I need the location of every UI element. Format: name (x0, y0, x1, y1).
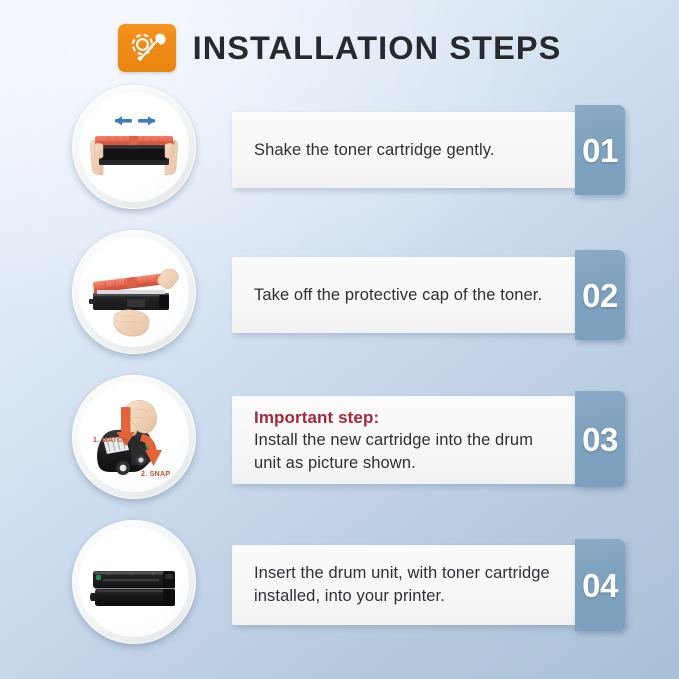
step-text-body: Install the new cartridge into the drum … (254, 431, 533, 472)
step-text: Insert the drum unit, with toner cartrid… (254, 562, 555, 608)
arrow-left-icon (115, 116, 132, 125)
step-number-badge: 03 (575, 391, 625, 487)
step-image-4 (72, 520, 196, 644)
step-card: Important step: Install the new cartridg… (232, 396, 575, 484)
step-image-2 (72, 230, 196, 354)
step-card: Shake the toner cartridge gently. (232, 112, 575, 188)
step-text: Important step: Install the new cartridg… (254, 406, 555, 475)
step-image-3: 1. MATCH 2. SNAP (72, 375, 196, 499)
important-step-label: Important step: (254, 406, 555, 429)
annotation-match: 1. MATCH (93, 437, 128, 444)
gear-wrench-icon (118, 24, 176, 72)
step-number: 04 (582, 569, 618, 602)
steps-list: Shake the toner cartridge gently. 01 (0, 82, 679, 662)
step-text: Shake the toner cartridge gently. (254, 139, 495, 162)
step-number: 03 (582, 423, 618, 456)
step-number: 01 (582, 134, 618, 167)
step-number-badge: 01 (575, 105, 625, 195)
step-number-badge: 04 (575, 539, 625, 631)
step-card: Insert the drum unit, with toner cartrid… (232, 545, 575, 625)
step-number-badge: 02 (575, 250, 625, 340)
step-row: Take off the protective cap of the toner… (0, 227, 679, 372)
step-row: Shake the toner cartridge gently. 01 (0, 82, 679, 227)
step-number: 02 (582, 279, 618, 312)
step-image-1 (72, 85, 196, 209)
step-text: Take off the protective cap of the toner… (254, 284, 542, 307)
step-card: Take off the protective cap of the toner… (232, 257, 575, 333)
page-header: INSTALLATION STEPS (0, 17, 679, 79)
step-row: Insert the drum unit, with toner cartrid… (0, 517, 679, 662)
annotation-snap: 2. SNAP (141, 471, 170, 478)
page-title: INSTALLATION STEPS (193, 32, 562, 65)
step-row: 1. MATCH 2. SNAP Important step: Install… (0, 372, 679, 517)
arrow-right-icon (138, 116, 155, 125)
